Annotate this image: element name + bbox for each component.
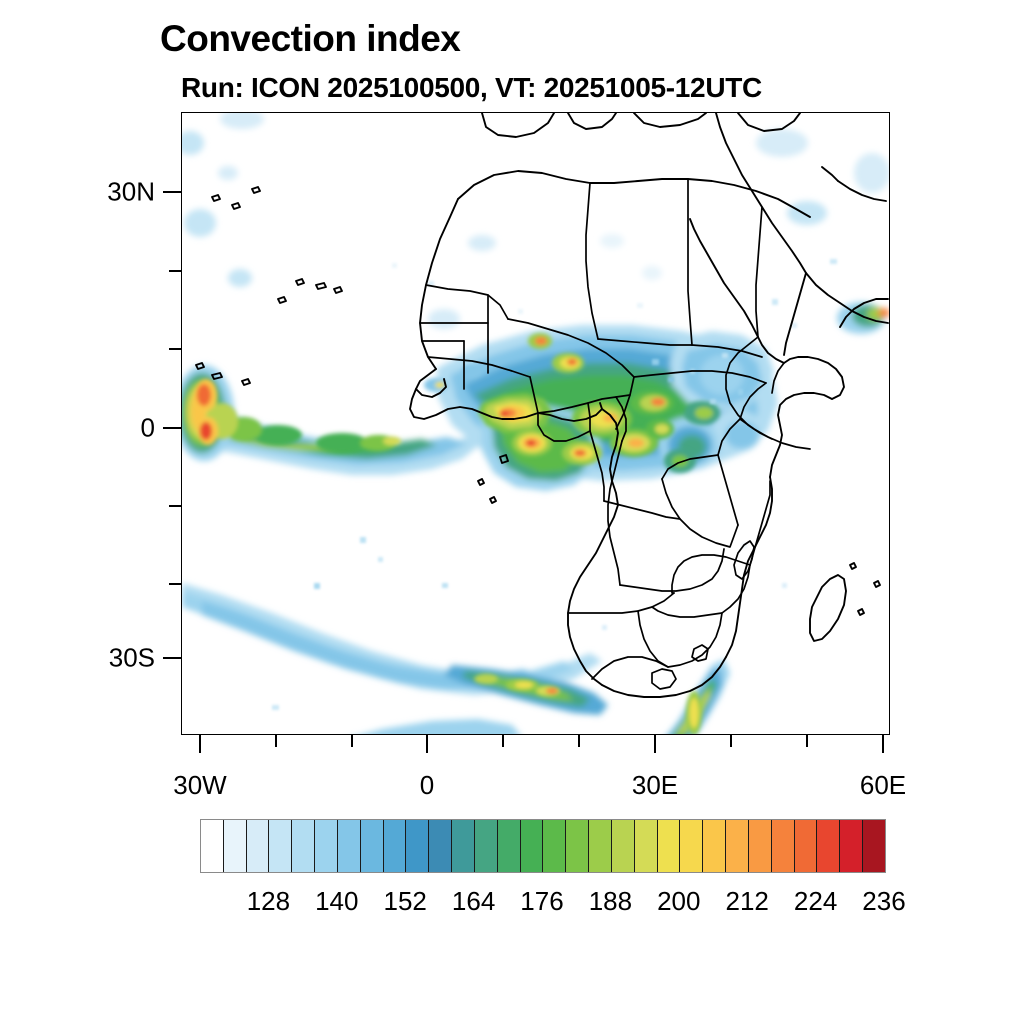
colorbar-cell <box>772 820 795 872</box>
xtick-minor-50e <box>806 735 808 747</box>
colorbar-cell <box>658 820 681 872</box>
ytick-minor-10s <box>169 505 181 507</box>
xtick-60e <box>882 735 884 753</box>
colorbar[interactable] <box>200 819 886 873</box>
ytick-minor-20n <box>169 348 181 350</box>
colorbar-cell <box>635 820 658 872</box>
colorbar-cell <box>452 820 475 872</box>
xtick-minor-40e <box>730 735 732 747</box>
ytick-30s <box>163 657 181 659</box>
colorbar-tick-label: 188 <box>589 886 632 917</box>
xtick-minor-20e <box>578 735 580 747</box>
xlabel-30e: 30E <box>632 770 678 801</box>
xtick-minor-10e <box>502 735 504 747</box>
ylabel-30s: 30S <box>60 643 155 674</box>
colorbar-cell <box>475 820 498 872</box>
colorbar-cell <box>795 820 818 872</box>
map-canvas <box>182 113 890 735</box>
page-title: Convection index <box>160 18 460 60</box>
xtick-minor-10w <box>351 735 353 747</box>
ytick-minor-10n <box>169 270 181 272</box>
colorbar-cell <box>224 820 247 872</box>
colorbar-cell <box>201 820 224 872</box>
colorbar-tick-label: 140 <box>315 886 358 917</box>
colorbar-tick-label: 176 <box>520 886 563 917</box>
colorbar-tick-label: 152 <box>383 886 426 917</box>
colorbar-cell <box>566 820 589 872</box>
colorbar-cell <box>612 820 635 872</box>
colorbar-cell <box>863 820 885 872</box>
colorbar-cell <box>703 820 726 872</box>
colorbar-cell <box>315 820 338 872</box>
map-panel[interactable] <box>181 112 890 735</box>
colorbar-cell <box>429 820 452 872</box>
colorbar-cell <box>498 820 521 872</box>
colorbar-cell <box>840 820 863 872</box>
colorbar-cell <box>726 820 749 872</box>
colorbar-tick-label: 128 <box>247 886 290 917</box>
run-valid-time-subtitle: Run: ICON 2025100500, VT: 20251005-12UTC <box>181 72 762 104</box>
colorbar-cell <box>521 820 544 872</box>
colorbar-tick-label: 236 <box>862 886 905 917</box>
colorbar-cell <box>269 820 292 872</box>
colorbar-cell <box>247 820 270 872</box>
xtick-30w <box>199 735 201 753</box>
colorbar-cell <box>338 820 361 872</box>
colorbar-cell <box>292 820 315 872</box>
colorbar-cell <box>817 820 840 872</box>
colorbar-tick-label: 164 <box>452 886 495 917</box>
xtick-0 <box>426 735 428 753</box>
ytick-30n <box>163 191 181 193</box>
xtick-minor-20w <box>275 735 277 747</box>
xlabel-60e: 60E <box>860 770 906 801</box>
xlabel-30w: 30W <box>173 770 226 801</box>
colorbar-cell <box>361 820 384 872</box>
xlabel-0: 0 <box>420 770 434 801</box>
colorbar-cell <box>680 820 703 872</box>
colorbar-tick-label: 212 <box>725 886 768 917</box>
colorbar-cell <box>749 820 772 872</box>
colorbar-cell <box>589 820 612 872</box>
ylabel-30n: 30N <box>60 177 155 208</box>
xtick-30e <box>654 735 656 753</box>
ytick-0 <box>163 427 181 429</box>
colorbar-cell <box>406 820 429 872</box>
ytick-minor-20s <box>169 583 181 585</box>
colorbar-tick-label: 224 <box>794 886 837 917</box>
colorbar-tick-label: 200 <box>657 886 700 917</box>
ylabel-0: 0 <box>60 413 155 444</box>
colorbar-cell <box>543 820 566 872</box>
colorbar-cell <box>384 820 407 872</box>
